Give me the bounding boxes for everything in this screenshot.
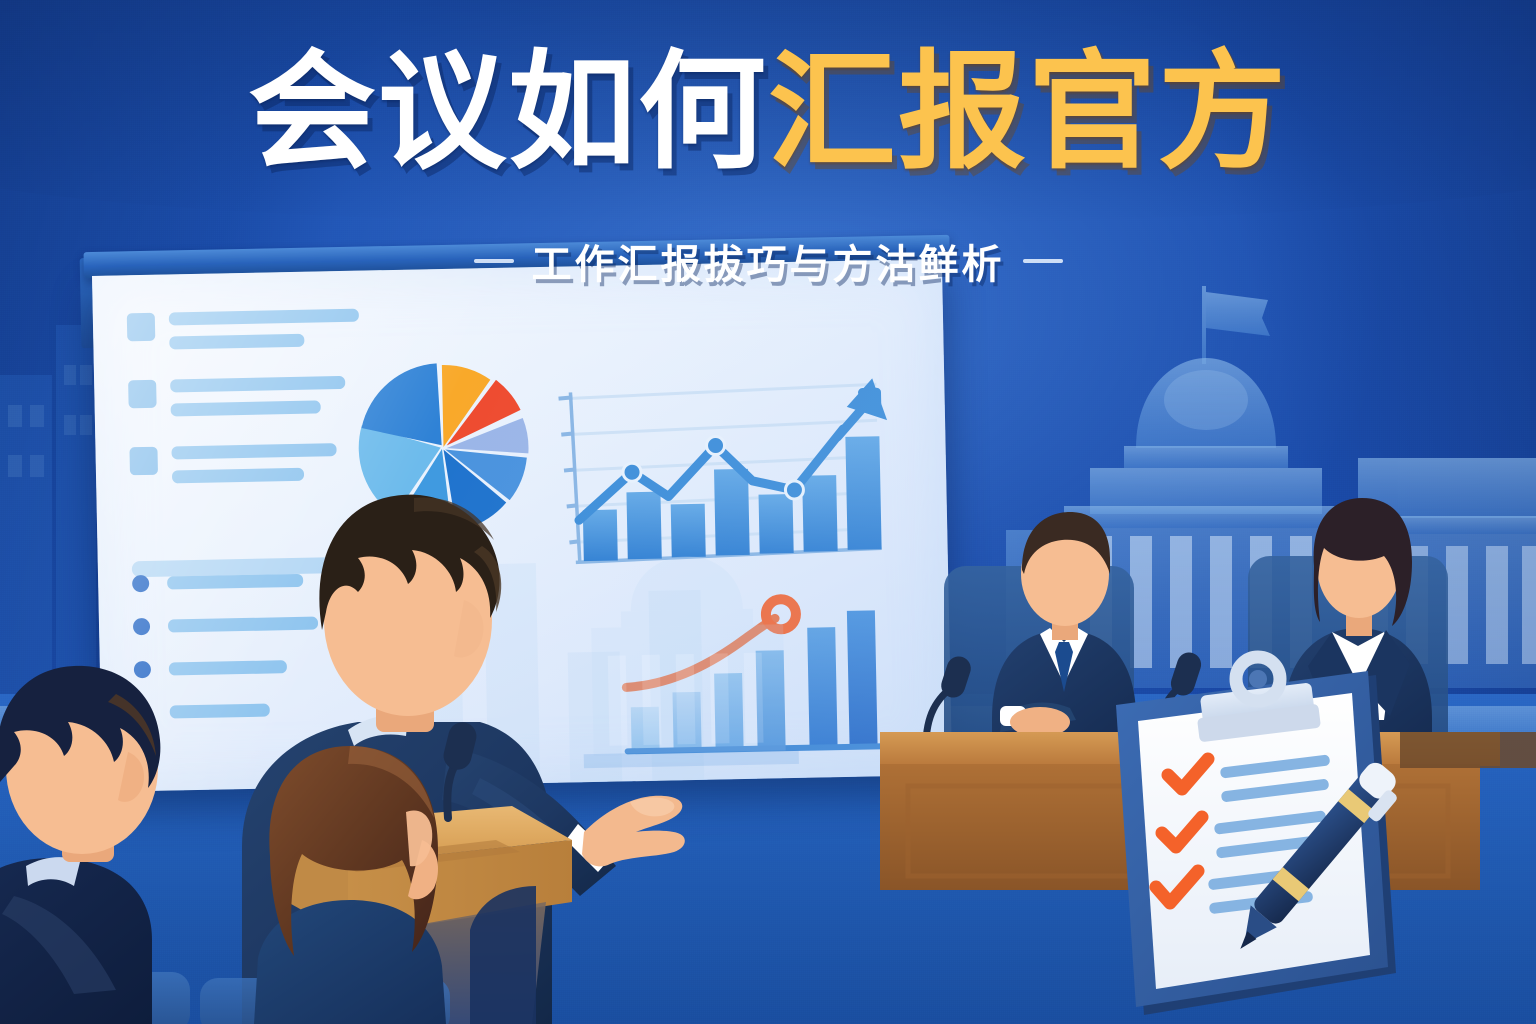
- slide-text-row: [127, 307, 428, 350]
- flag-on-dome: [1202, 286, 1270, 364]
- headline-block: 会议如何汇报官方: [0, 46, 1536, 179]
- audience-partial-figure: [470, 886, 536, 1024]
- clipboard-clip: [1197, 657, 1321, 742]
- subtitle-dash-right-icon: [1023, 259, 1063, 263]
- square-bullet-icon: [129, 447, 158, 476]
- audience-group: [0, 690, 530, 1024]
- round-bullet-icon: [133, 618, 150, 635]
- audience-man: [0, 666, 160, 1024]
- subtitle-dash-left-icon: [474, 259, 514, 263]
- text-placeholder-line: [171, 443, 336, 459]
- text-placeholder-line: [170, 376, 345, 393]
- audience-woman: [254, 746, 446, 1024]
- page-title-white: 会议如何: [248, 46, 768, 179]
- square-bullet-icon: [127, 313, 156, 342]
- round-bullet-icon: [134, 661, 151, 678]
- text-placeholder-line: [171, 400, 321, 416]
- square-bullet-icon: [128, 380, 157, 409]
- clipboard-group: [1090, 655, 1520, 1024]
- text-placeholder-line: [169, 334, 304, 350]
- text-placeholder-line: [169, 309, 359, 326]
- poster-canvas: 会议如何汇报官方 工作汇报拔巧与方沽鲜析: [0, 0, 1536, 1024]
- page-title-gold: 汇报官方: [768, 46, 1288, 179]
- subtitle-block: 工作汇报拔巧与方沽鲜析: [0, 232, 1536, 290]
- presenter-hand: [582, 796, 685, 867]
- subtitle-text: 工作汇报拔巧与方沽鲜析: [532, 232, 1005, 290]
- round-bullet-icon: [132, 575, 149, 592]
